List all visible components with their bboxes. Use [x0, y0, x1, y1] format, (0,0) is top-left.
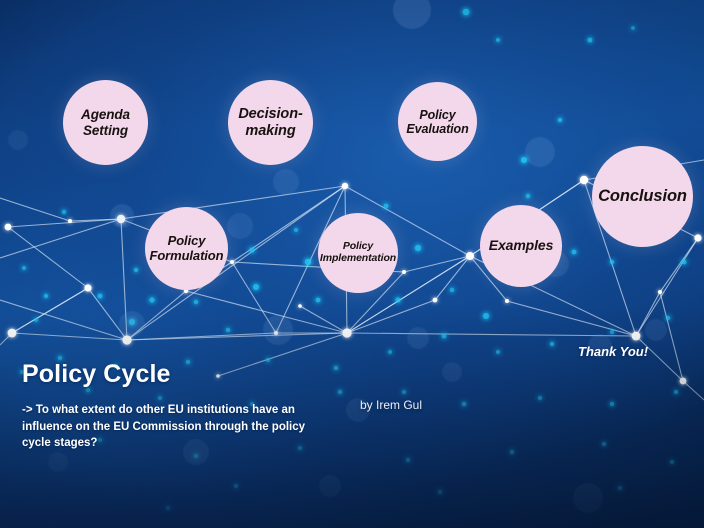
topic-bubble-label: PolicyImplementation — [316, 241, 400, 265]
network-node — [632, 332, 641, 341]
topic-bubble-examples[interactable]: Examples — [480, 205, 562, 287]
network-particle — [610, 402, 614, 406]
network-particle — [186, 360, 190, 364]
network-particle — [496, 38, 500, 42]
network-particle — [670, 460, 674, 464]
network-particle — [98, 294, 103, 299]
network-edge — [218, 333, 347, 376]
network-particle — [415, 245, 421, 251]
network-node — [658, 290, 662, 294]
network-edge — [683, 381, 704, 400]
network-node — [342, 328, 351, 337]
network-particle — [682, 260, 687, 265]
network-particle — [395, 297, 400, 302]
network-particle — [572, 250, 577, 255]
network-node — [298, 304, 302, 308]
network-node — [5, 224, 12, 231]
network-particle — [442, 334, 447, 339]
network-edge — [88, 288, 127, 340]
network-edge — [12, 288, 88, 333]
network-particle — [234, 484, 238, 488]
network-particle — [253, 284, 259, 290]
network-particle — [266, 358, 270, 362]
network-particle — [34, 318, 38, 322]
network-edge — [435, 256, 470, 300]
network-particle — [463, 9, 469, 15]
prezi-slide-canvas[interactable]: AgendaSettingDecision-makingPolicyEvalua… — [0, 0, 704, 528]
topic-bubble-conclusion[interactable]: Conclusion — [592, 146, 693, 247]
network-particle — [384, 204, 389, 209]
topic-bubble-policy-formulation[interactable]: PolicyFormulation — [145, 207, 228, 290]
author-byline: by Irem Gul — [360, 398, 422, 412]
network-node — [694, 234, 701, 241]
network-particle — [618, 486, 622, 490]
network-node — [8, 329, 17, 338]
network-node — [216, 374, 220, 378]
network-edge — [121, 219, 127, 340]
network-node — [505, 299, 509, 303]
network-node — [680, 378, 687, 385]
network-particle — [510, 450, 514, 454]
topic-bubble-agenda-setting[interactable]: AgendaSetting — [63, 80, 148, 165]
network-edge — [121, 186, 345, 219]
network-particle — [129, 319, 135, 325]
research-question-text: -> To what extent do other EU institutio… — [22, 402, 332, 452]
network-particle — [496, 350, 500, 354]
network-edge — [347, 333, 636, 336]
network-edge — [636, 292, 660, 336]
network-particle — [631, 26, 635, 30]
network-node — [466, 252, 474, 260]
network-particle — [450, 288, 454, 292]
thank-you-label: Thank You! — [578, 344, 648, 359]
network-particle — [149, 297, 154, 302]
topic-bubble-label: PolicyEvaluation — [402, 108, 472, 136]
network-edge — [660, 238, 698, 292]
network-particle — [610, 330, 614, 334]
network-particle — [316, 298, 321, 303]
network-particle — [338, 390, 342, 394]
network-particle — [462, 402, 466, 406]
network-node — [117, 215, 125, 223]
network-node — [342, 183, 348, 189]
network-edge — [8, 227, 88, 288]
network-edge — [507, 301, 636, 336]
network-particle — [62, 210, 66, 214]
network-particle — [588, 38, 593, 43]
network-edge — [300, 306, 347, 333]
network-particle — [402, 390, 406, 394]
network-edge — [660, 292, 683, 381]
network-particle — [406, 458, 410, 462]
network-particle — [249, 247, 254, 252]
network-edge — [636, 238, 698, 336]
network-node — [122, 335, 131, 344]
network-particle — [526, 194, 530, 198]
network-particle — [674, 390, 678, 394]
network-edge — [232, 262, 276, 333]
network-particle — [305, 259, 311, 265]
network-particle — [550, 342, 554, 346]
network-particle — [158, 396, 162, 400]
network-particle — [538, 396, 542, 400]
network-edge — [0, 300, 127, 340]
network-particle — [602, 442, 606, 446]
network-particle — [483, 313, 489, 319]
network-particle — [134, 268, 138, 272]
network-particle — [226, 328, 230, 332]
topic-bubble-policy-evaluation[interactable]: PolicyEvaluation — [398, 82, 477, 161]
network-particle — [294, 228, 298, 232]
network-node — [402, 270, 406, 274]
network-particle — [610, 260, 614, 264]
topic-bubble-label: Decision-making — [234, 106, 306, 138]
topic-bubble-label: PolicyFormulation — [145, 234, 227, 263]
topic-bubble-label: Examples — [485, 238, 558, 254]
network-particle — [22, 266, 26, 270]
page-title: Policy Cycle — [22, 360, 171, 389]
network-particle — [334, 366, 338, 370]
network-particle — [194, 454, 198, 458]
network-particle — [388, 350, 392, 354]
network-particle — [558, 118, 562, 122]
network-edge — [404, 256, 470, 272]
network-particle — [166, 506, 170, 510]
network-edge — [127, 291, 186, 340]
network-particle — [438, 490, 442, 494]
network-node — [84, 284, 91, 291]
network-node — [580, 176, 588, 184]
topic-bubble-policy-implementation[interactable]: PolicyImplementation — [318, 213, 398, 293]
topic-bubble-decision-making[interactable]: Decision-making — [228, 80, 313, 165]
network-node — [68, 219, 72, 223]
network-particle — [194, 300, 198, 304]
network-particle — [44, 294, 48, 298]
topic-bubble-label: Conclusion — [594, 187, 691, 205]
network-node — [230, 260, 234, 264]
network-particle — [666, 316, 670, 320]
network-edge — [0, 219, 121, 258]
network-edge — [0, 198, 70, 221]
topic-bubble-label: AgendaSetting — [77, 107, 134, 137]
network-node — [433, 298, 438, 303]
network-particle — [521, 157, 527, 163]
network-edge — [186, 291, 347, 333]
network-node — [274, 331, 278, 335]
